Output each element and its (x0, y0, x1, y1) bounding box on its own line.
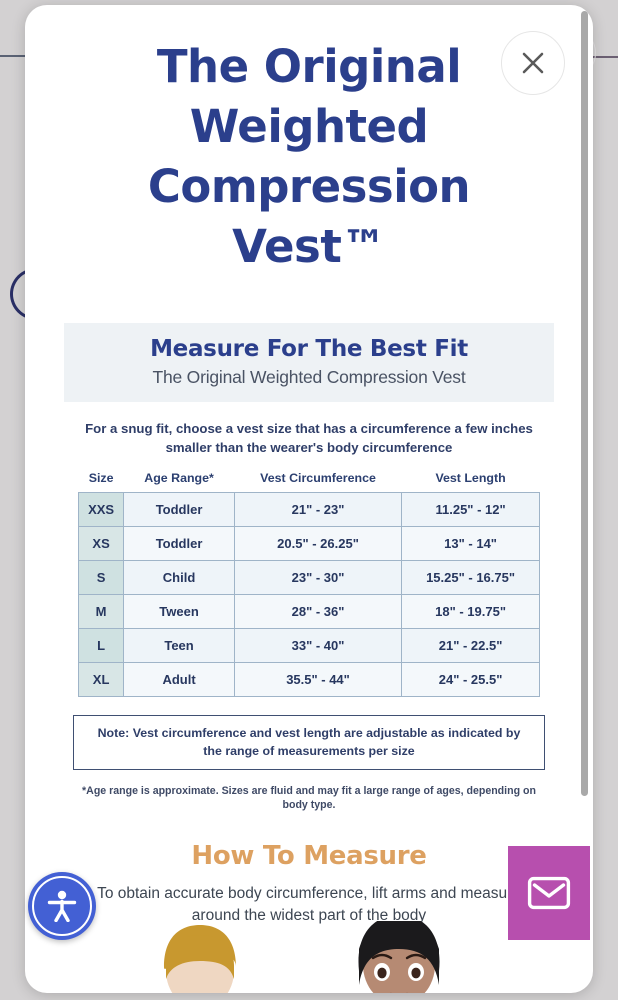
table-row: XL Adult 35.5" - 44" 24" - 25.5" (79, 663, 540, 697)
cell-length: 18" - 19.75" (402, 595, 540, 629)
cell-circumference: 33" - 40" (234, 629, 401, 663)
measure-banner: Measure For The Best Fit The Original We… (64, 323, 554, 402)
col-header-age-range: Age Range* (124, 471, 235, 493)
cell-size: XL (79, 663, 124, 697)
cell-length: 21" - 22.5" (402, 629, 540, 663)
col-header-circumference: Vest Circumference (234, 471, 401, 493)
accessibility-ring (32, 876, 92, 936)
cell-size: L (79, 629, 124, 663)
table-row: XXS Toddler 21" - 23" 11.25" - 12" (79, 493, 540, 527)
size-table: Size Age Range* Vest Circumference Vest … (78, 471, 540, 697)
banner-title: Measure For The Best Fit (74, 336, 544, 362)
age-range-footnote: *Age range is approximate. Sizes are flu… (73, 784, 545, 813)
cell-size: M (79, 595, 124, 629)
modal-scrollbar-thumb[interactable] (581, 11, 588, 796)
close-icon (520, 50, 546, 76)
cell-age: Toddler (124, 493, 235, 527)
cell-circumference: 21" - 23" (234, 493, 401, 527)
close-button[interactable] (501, 31, 565, 95)
size-guide-modal: The Original Weighted Compression Vest™ … (25, 5, 593, 993)
cell-age: Tween (124, 595, 235, 629)
col-header-length: Vest Length (402, 471, 540, 493)
cell-size: S (79, 561, 124, 595)
cell-age: Child (124, 561, 235, 595)
table-row: M Tween 28" - 36" 18" - 19.75" (79, 595, 540, 629)
accessibility-widget-button[interactable] (28, 872, 96, 940)
child-darkhair-illustration (335, 921, 463, 993)
table-row: L Teen 33" - 40" 21" - 22.5" (79, 629, 540, 663)
size-chart: Size Age Range* Vest Circumference Vest … (78, 471, 540, 697)
table-header-row: Size Age Range* Vest Circumference Vest … (79, 471, 540, 493)
table-row: XS Toddler 20.5" - 26.25" 13" - 14" (79, 527, 540, 561)
envelope-icon (527, 876, 571, 910)
table-row: S Child 23" - 30" 15.25" - 16.75" (79, 561, 540, 595)
email-contact-button[interactable] (508, 846, 590, 940)
col-header-size: Size (79, 471, 124, 493)
accessibility-person-icon (47, 890, 77, 922)
cell-length: 15.25" - 16.75" (402, 561, 540, 595)
cell-length: 11.25" - 12" (402, 493, 540, 527)
cell-length: 13" - 14" (402, 527, 540, 561)
cell-size: XS (79, 527, 124, 561)
cell-circumference: 23" - 30" (234, 561, 401, 595)
modal-scrollbar[interactable] (580, 5, 589, 993)
fit-intro-text: For a snug fit, choose a vest size that … (85, 420, 533, 457)
child-blonde-illustration (140, 921, 260, 993)
modal-scroll-region: The Original Weighted Compression Vest™ … (25, 5, 593, 993)
cell-circumference: 28" - 36" (234, 595, 401, 629)
cell-age: Toddler (124, 527, 235, 561)
cell-circumference: 20.5" - 26.25" (234, 527, 401, 561)
cell-circumference: 35.5" - 44" (234, 663, 401, 697)
cell-age: Teen (124, 629, 235, 663)
background-rule-left (0, 55, 26, 57)
cell-size: XXS (79, 493, 124, 527)
banner-subtitle: The Original Weighted Compression Vest (74, 367, 544, 387)
cell-age: Adult (124, 663, 235, 697)
adjustability-note: Note: Vest circumference and vest length… (73, 715, 545, 769)
cell-length: 24" - 25.5" (402, 663, 540, 697)
